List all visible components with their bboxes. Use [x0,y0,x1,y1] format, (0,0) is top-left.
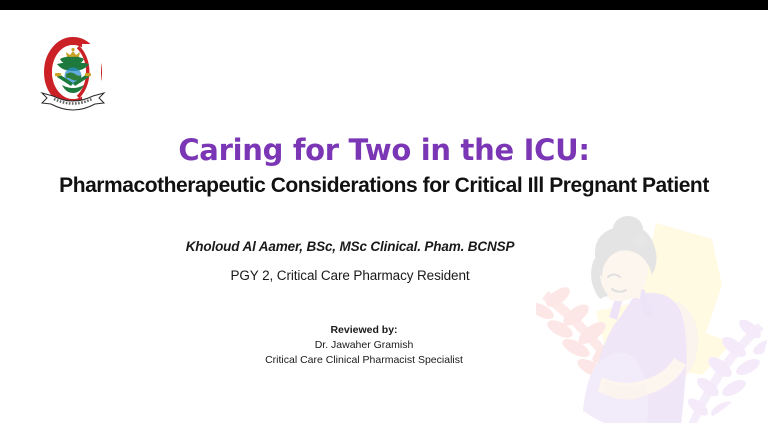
page-title: Caring for Two in the ICU: [0,135,768,165]
author-name: Kholoud Al Aamer, BSc, MSc Clinical. Pha… [0,239,700,254]
reviewer-name: Dr. Jawaher Gramish [0,338,728,353]
slide-root: Caring for Two in the ICU: Pharmacothera… [0,0,768,423]
letterbox-bar-top [0,0,768,10]
author-role: PGY 2, Critical Care Pharmacy Resident [0,268,700,283]
reviewer-role: Critical Care Clinical Pharmacist Specia… [0,353,728,368]
reviewed-by-block: Reviewed by: Dr. Jawaher Gramish Critica… [0,323,728,369]
reviewed-by-label: Reviewed by: [0,323,728,338]
slide-canvas: Caring for Two in the ICU: Pharmacothera… [0,10,768,423]
page-subtitle: Pharmacotherapeutic Considerations for C… [0,174,768,197]
organization-logo [33,36,113,116]
